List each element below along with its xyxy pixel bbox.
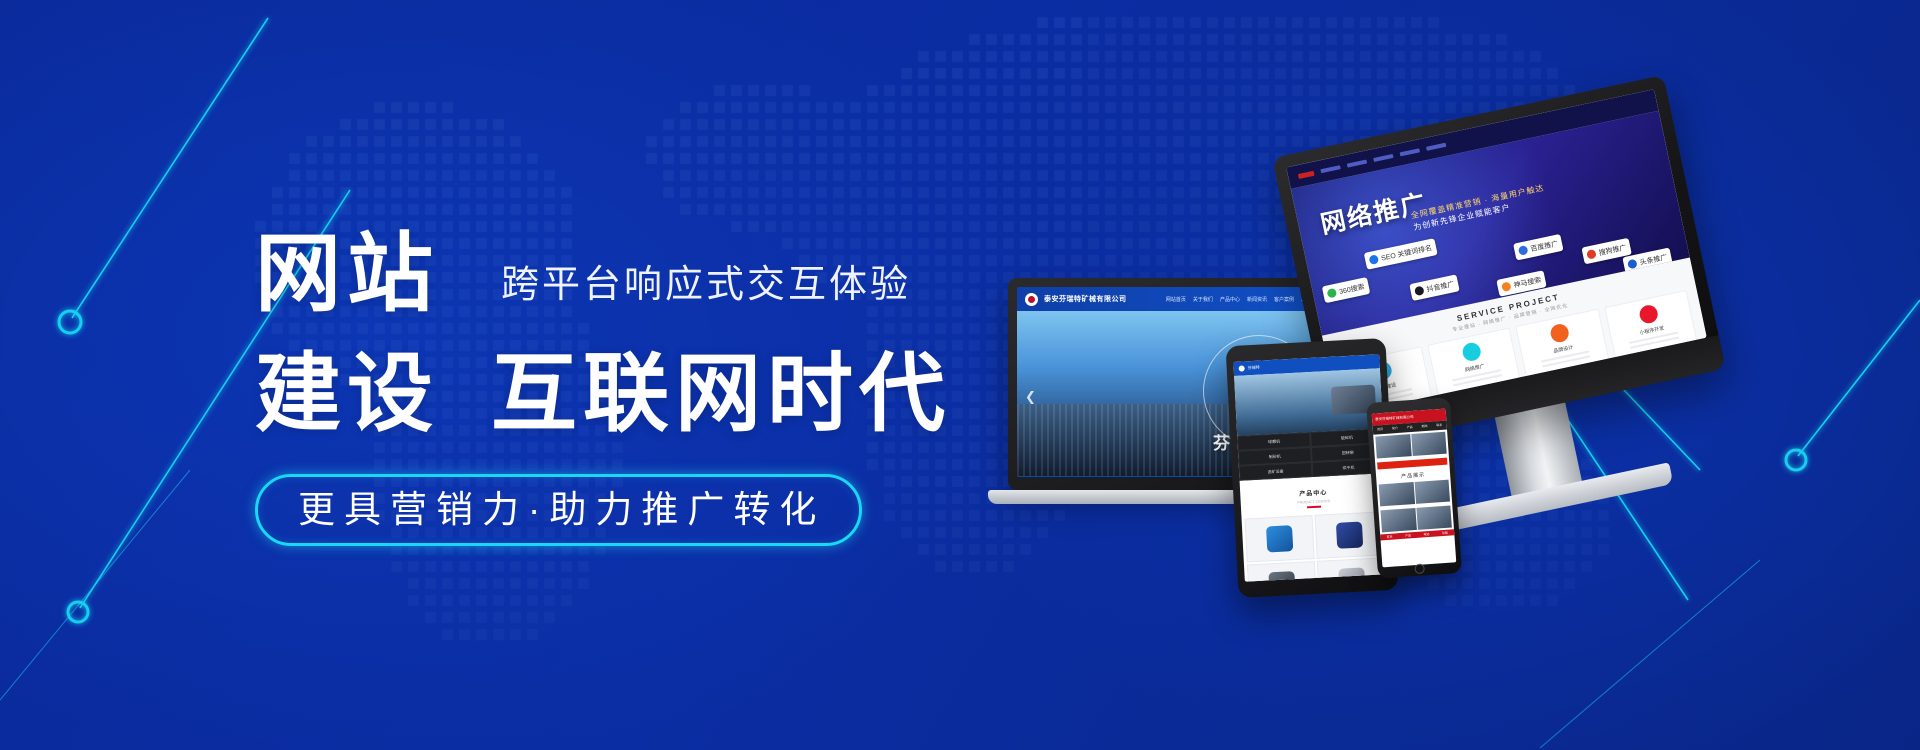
- product-thumb-icon: [1266, 525, 1293, 552]
- tablet-screen: 芬瑞特 球磨机 破碎机 制砂机 回转窑 选矿设备 烘干机 产品中心: [1233, 354, 1390, 581]
- nav-item-icon: [1373, 154, 1393, 162]
- phone-bottom-item: 导航: [1436, 529, 1455, 536]
- phone-nav-item: 产品: [1402, 423, 1417, 433]
- badge-dot-icon: [1414, 286, 1425, 297]
- phone-image: [1416, 506, 1452, 530]
- badge-dot-icon: [1586, 249, 1597, 260]
- badge-label: 搜狗推广: [1598, 242, 1627, 258]
- product-thumb-icon: [1338, 567, 1365, 581]
- badge-label: 百度推广: [1529, 238, 1558, 254]
- tablet-product-cell: [1245, 515, 1315, 562]
- tablet-product-cell: [1247, 561, 1317, 582]
- service-icon: [1638, 304, 1659, 325]
- nav-item-icon: [1320, 165, 1340, 173]
- platform-badge: 360搜索: [1322, 277, 1370, 303]
- laptop-site-menu: 网站首页 关于我们 产品中心 新闻资讯 客户案例 人才招聘: [1166, 296, 1321, 303]
- hero-text-block: 网站 跨平台响应式交互体验 建设 互联网时代 更具营销力·助力推广转化: [255, 212, 955, 546]
- service-icon: [1549, 322, 1570, 343]
- badge-dot-icon: [1518, 245, 1529, 256]
- product-thumb-icon: [1268, 571, 1295, 582]
- tablet-section-title: 产品中心: [1299, 490, 1327, 497]
- headline-row-1: 网站 跨平台响应式交互体验: [255, 212, 955, 322]
- badge-dot-icon: [1501, 281, 1512, 292]
- phone-image-row: [1373, 430, 1449, 461]
- nav-item-icon: [1347, 160, 1367, 168]
- laptop-menu-item: 网站首页: [1166, 296, 1186, 303]
- laptop-menu-item: 新闻资讯: [1247, 296, 1267, 303]
- headline-line-2b: 互联网时代: [491, 344, 951, 444]
- phone-nav-item: 新闻: [1417, 422, 1432, 432]
- tagline-text: 更具营销力·助力推广转化: [292, 490, 825, 530]
- platform-badge: SEO 关键词排名: [1364, 238, 1438, 270]
- tagline-pill: 更具营销力·助力推广转化: [255, 474, 862, 546]
- phone-nav-item: 首页: [1373, 425, 1388, 435]
- laptop-menu-item: 客户案例: [1274, 296, 1294, 303]
- service-card-name: 品牌设计: [1553, 344, 1574, 355]
- nav-item-icon: [1426, 143, 1446, 151]
- phone-nav-item: 联系: [1432, 421, 1447, 431]
- laptop-site-brand: 泰安芬瑞特矿械有限公司: [1044, 294, 1127, 304]
- platform-badge: 抖音推广: [1409, 274, 1459, 301]
- phone-bottom-item: 产品: [1399, 532, 1418, 539]
- badge-dot-icon: [1627, 259, 1638, 270]
- stat-caption: 合作伙伴: [1637, 388, 1673, 402]
- tablet-product-grid: [1241, 508, 1390, 582]
- badge-label: SEO 关键词排名: [1380, 242, 1433, 263]
- nav-item-icon: [1400, 148, 1420, 156]
- headline-line-2a: 建设: [255, 344, 439, 444]
- phone-mockup: 泰安芬瑞特矿械有限公司 首页 简介 产品 新闻 联系 产品展示: [1366, 397, 1462, 578]
- device-mockup-cluster: 泰安芬瑞特矿械有限公司 网站首页 关于我们 产品中心 新闻资讯 客户案例 人才招…: [1080, 110, 1920, 640]
- tablet-section-underline: [1307, 506, 1321, 509]
- phone-nav-item: 简介: [1387, 424, 1402, 434]
- badge-label: 抖音推广: [1426, 279, 1455, 295]
- tablet-hero: [1234, 368, 1383, 436]
- tablet-brand: 芬瑞特: [1248, 365, 1260, 372]
- laptop-prev-arrow-icon: ❮: [1025, 389, 1036, 405]
- badge-dot-icon: [1327, 288, 1338, 299]
- hero-banner: 网站 跨平台响应式交互体验 建设 互联网时代 更具营销力·助力推广转化 泰安芬瑞…: [0, 0, 1920, 750]
- tablet-tab-list: 球磨机 破碎机 制砂机 回转窑 选矿设备 烘干机: [1237, 428, 1385, 481]
- nav-logo-icon: [1298, 170, 1315, 178]
- headline-row-2: 建设 互联网时代: [255, 332, 955, 444]
- phone-bottom-item: 首页: [1380, 533, 1399, 540]
- phone-image: [1379, 482, 1415, 506]
- phone-image: [1411, 432, 1447, 456]
- phone-bottom-item: 电话: [1417, 531, 1436, 538]
- laptop-menu-item: 产品中心: [1220, 296, 1240, 303]
- phone-body: 泰安芬瑞特矿械有限公司 首页 简介 产品 新闻 联系 产品展示: [1366, 397, 1462, 578]
- hero-subtitle: 跨平台响应式交互体验: [501, 262, 911, 322]
- laptop-menu-item: 关于我们: [1193, 296, 1213, 303]
- phone-image: [1414, 480, 1450, 504]
- badge-label: 360搜索: [1338, 281, 1365, 296]
- phone-screen: 泰安芬瑞特矿械有限公司 首页 简介 产品 新闻 联系 产品展示: [1372, 409, 1457, 568]
- phone-image: [1375, 434, 1411, 458]
- laptop-site-nav: 泰安芬瑞特矿械有限公司 网站首页 关于我们 产品中心 新闻资讯 客户案例 人才招…: [1017, 287, 1329, 311]
- laptop-site-logo-icon: [1025, 293, 1038, 306]
- product-thumb-icon: [1336, 521, 1363, 548]
- service-icon: [1461, 341, 1482, 362]
- badge-label: 神马搜索: [1513, 274, 1542, 290]
- service-card-name: 网络推广: [1464, 363, 1485, 374]
- badge-dot-icon: [1368, 254, 1379, 265]
- tablet-logo-icon: [1239, 365, 1245, 371]
- phone-brand: 泰安芬瑞特矿械有限公司: [1375, 414, 1414, 422]
- headline-line-1: 网站: [255, 226, 439, 322]
- phone-image: [1380, 508, 1416, 532]
- platform-badge: 百度推广: [1513, 234, 1563, 261]
